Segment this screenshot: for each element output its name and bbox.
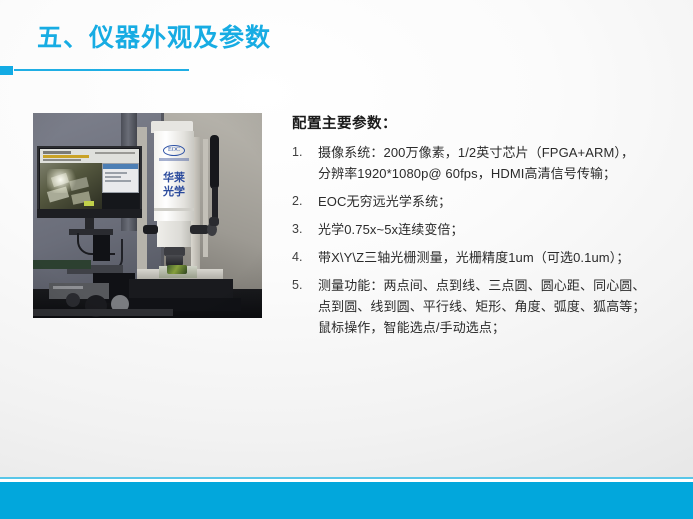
parameter-item-line: EOC无穷远光学系统； <box>318 191 678 212</box>
parameter-item: 2.EOC无穷远光学系统； <box>292 191 678 212</box>
parameter-item-text: 光学0.75x~5x连续变倍； <box>318 219 678 240</box>
parameter-item-text: 摄像系统：200万像素，1/2英寸芯片（FPGA+ARM），分辨率1920*10… <box>318 142 678 184</box>
parameter-item-number: 4. <box>292 247 318 268</box>
parameter-item-line: 鼠标操作，智能选点/手动选点； <box>318 317 678 338</box>
parameter-item-number: 1. <box>292 142 318 163</box>
parameter-item-line: 带X\Y\Z三轴光栅测量，光栅精度1um（可选0.1um）； <box>318 247 678 268</box>
parameters-heading: 配置主要参数： <box>292 113 678 135</box>
parameter-item: 1.摄像系统：200万像素，1/2英寸芯片（FPGA+ARM），分辨率1920*… <box>292 142 678 184</box>
slide-canvas: 五、仪器外观及参数 <box>0 0 693 519</box>
photo-vignette <box>33 113 262 318</box>
parameters-section: 配置主要参数： 1.摄像系统：200万像素，1/2英寸芯片（FPGA+ARM），… <box>292 113 678 345</box>
title-rule-square-marker <box>0 66 13 75</box>
parameter-item-number: 2. <box>292 191 318 212</box>
parameter-item-line: 摄像系统：200万像素，1/2英寸芯片（FPGA+ARM）， <box>318 142 678 163</box>
title-underline-rule <box>0 64 693 76</box>
parameter-item-number: 3. <box>292 219 318 240</box>
page-title: 五、仪器外观及参数 <box>37 18 271 58</box>
parameter-item: 5.测量功能：两点间、点到线、三点圆、圆心距、同心圆、点到圆、线到圆、平行线、矩… <box>292 275 678 338</box>
parameter-item-line: 分辨率1920*1080p@ 60fps，HDMI高清信号传输； <box>318 163 678 184</box>
parameter-item-line: 光学0.75x~5x连续变倍； <box>318 219 678 240</box>
parameter-item-line: 测量功能：两点间、点到线、三点圆、圆心距、同心圆、 <box>318 275 678 296</box>
parameters-list: 1.摄像系统：200万像素，1/2英寸芯片（FPGA+ARM），分辨率1920*… <box>292 142 678 338</box>
parameter-item-line: 点到圆、线到圆、平行线、矩形、角度、弧度、狐高等； <box>318 296 678 317</box>
title-rule-line <box>14 69 189 71</box>
parameter-item-text: EOC无穷远光学系统； <box>318 191 678 212</box>
instrument-photo: EOC 华莱光学 <box>33 113 262 318</box>
parameter-item-text: 测量功能：两点间、点到线、三点圆、圆心距、同心圆、点到圆、线到圆、平行线、矩形、… <box>318 275 678 338</box>
footer-band <box>0 482 693 519</box>
parameter-item: 3.光学0.75x~5x连续变倍； <box>292 219 678 240</box>
parameter-item-text: 带X\Y\Z三轴光栅测量，光栅精度1um（可选0.1um）； <box>318 247 678 268</box>
parameter-item: 4.带X\Y\Z三轴光栅测量，光栅精度1um（可选0.1um）； <box>292 247 678 268</box>
parameter-item-number: 5. <box>292 275 318 296</box>
slide-title-block: 五、仪器外观及参数 <box>0 18 693 78</box>
